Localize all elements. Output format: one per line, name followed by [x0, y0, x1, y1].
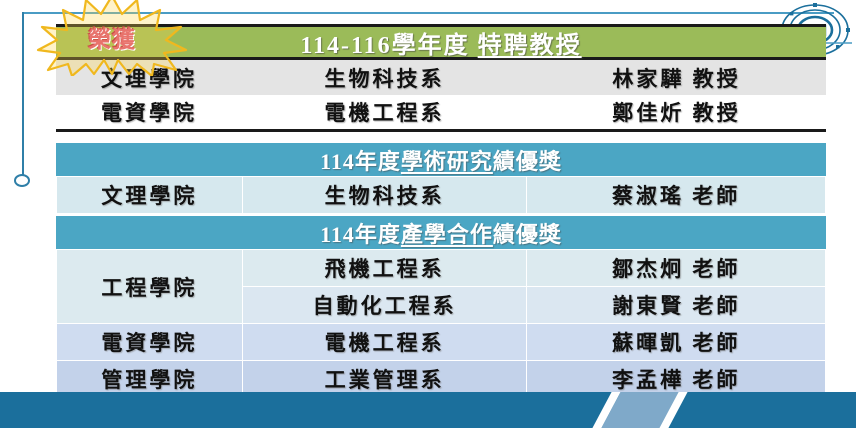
- industry-award-header-text: 114年度產學合作績優獎: [320, 217, 562, 249]
- professors-header-plain: 114-116學年度: [300, 33, 477, 59]
- academic-header-plain: 114年度: [320, 149, 401, 174]
- college-cell: 電資學院: [57, 324, 243, 361]
- department-cell: 自動化工程系: [242, 287, 527, 324]
- slide-canvas: 114-116學年度 特聘教授 榮獲 文理學院 生物科技系 林家驊 教授 電資學…: [0, 0, 856, 428]
- academic-header-tail: 績優獎: [493, 149, 562, 174]
- person-cell: 謝東賢 老師: [527, 287, 826, 324]
- industry-header-tail: 績優獎: [493, 222, 562, 247]
- department-cell: 電機工程系: [242, 324, 527, 361]
- academic-award-header-text: 114年度學術研究績優獎: [320, 144, 562, 176]
- industry-award-section-header: 114年度產學合作績優獎: [56, 216, 826, 249]
- department-cell: 飛機工程系: [242, 250, 527, 287]
- decorative-end-circle: [14, 174, 30, 187]
- table-row: 工程學院 飛機工程系 鄒杰炯 老師: [57, 250, 826, 287]
- person-cell: 鄭佳炘 教授: [527, 95, 826, 130]
- footer-bar: [0, 392, 856, 428]
- person-cell: 蘇暉凱 老師: [527, 324, 826, 361]
- table-row: 文理學院 生物科技系 蔡淑瑤 老師: [57, 177, 826, 214]
- college-cell: 電資學院: [56, 95, 242, 130]
- industry-header-plain: 114年度: [320, 222, 401, 247]
- table-row: 電資學院 電機工程系 蘇暉凱 老師: [57, 324, 826, 361]
- table-row: 電資學院 電機工程系 鄭佳炘 教授: [56, 95, 826, 130]
- award-starburst-badge: 榮獲: [36, 0, 188, 76]
- person-cell: 蔡淑瑤 老師: [527, 177, 826, 214]
- department-cell: 生物科技系: [242, 177, 527, 214]
- starburst-icon: [36, 0, 188, 76]
- academic-award-section-header: 114年度學術研究績優獎: [56, 143, 826, 176]
- professors-header-underlined: 特聘教授: [478, 33, 582, 59]
- person-cell: 鄒杰炯 老師: [527, 250, 826, 287]
- industry-header-underlined: 產學合作: [401, 222, 493, 247]
- academic-award-table: 文理學院 生物科技系 蔡淑瑤 老師: [56, 176, 826, 214]
- college-cell: 工程學院: [57, 250, 243, 324]
- person-cell: 林家驊 教授: [527, 60, 826, 95]
- professors-section-header-text: 114-116學年度 特聘教授: [300, 25, 581, 60]
- industry-award-table: 工程學院 飛機工程系 鄒杰炯 老師 自動化工程系 謝東賢 老師 電資學院 電機工…: [56, 249, 826, 398]
- department-cell: 生物科技系: [242, 60, 527, 95]
- department-cell: 電機工程系: [242, 95, 527, 130]
- college-cell: 文理學院: [57, 177, 243, 214]
- decorative-left-line: [22, 12, 24, 180]
- academic-header-underlined: 學術研究: [401, 149, 493, 174]
